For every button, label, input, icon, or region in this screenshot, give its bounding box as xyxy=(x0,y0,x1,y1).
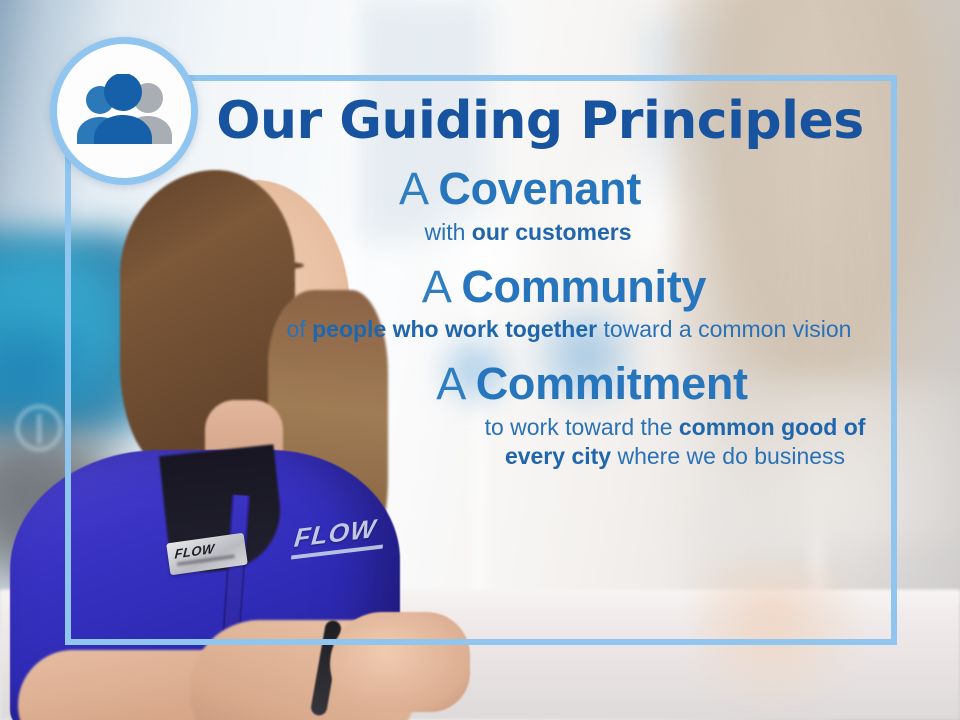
principle-community: A Community of people who work together … xyxy=(200,263,880,345)
principle-body-post: where we do business xyxy=(611,443,845,469)
principle-covenant: A Covenant with our customers xyxy=(200,165,880,247)
principle-heading: A Community xyxy=(248,263,880,312)
principle-body: with our customers xyxy=(200,218,840,247)
principle-keyword: Community xyxy=(461,261,706,312)
guiding-principles-banner: FLOW FLOW Our Guiding Pri xyxy=(0,0,960,720)
principle-commitment: A Commitment to work toward the common g… xyxy=(200,360,880,471)
principle-article: A xyxy=(436,358,475,409)
principle-heading: A Commitment xyxy=(304,360,880,409)
clasped-hands xyxy=(330,612,470,712)
principle-body-bold: people who work together xyxy=(312,316,597,342)
people-group-icon xyxy=(50,37,198,185)
principle-body-post: toward a common vision xyxy=(597,316,851,342)
principle-article: A xyxy=(422,261,461,312)
principle-body-pre: to work toward the xyxy=(485,414,679,440)
principle-keyword: Commitment xyxy=(476,358,748,409)
principle-body: to work toward the common good of every … xyxy=(410,413,880,471)
page-title: Our Guiding Principles xyxy=(200,94,880,149)
principle-heading: A Covenant xyxy=(200,165,840,214)
principle-body: of people who work together toward a com… xyxy=(248,315,880,344)
principle-body-pre: of xyxy=(287,316,313,342)
principle-body-pre: with xyxy=(424,219,471,245)
principle-body-bold: our customers xyxy=(472,219,632,245)
overlay-content: Our Guiding Principles A Covenant with o… xyxy=(200,80,880,471)
principle-article: A xyxy=(399,163,438,214)
principle-keyword: Covenant xyxy=(438,163,641,214)
customer-hand xyxy=(695,562,865,712)
